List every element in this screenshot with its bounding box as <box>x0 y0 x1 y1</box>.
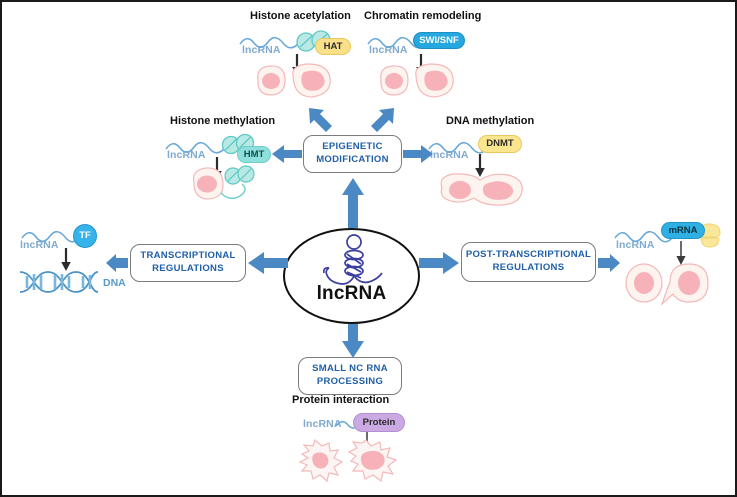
hub-epigenetic-line1: EPIGENETIC <box>322 141 383 154</box>
enzyme-tag-protein: Protein <box>353 413 405 432</box>
arrow-center-to-post-transcriptional <box>419 252 459 274</box>
hub-box-transcriptional-regulations[interactable]: TRANSCRIPTIONAL REGULATIONS <box>130 244 246 282</box>
hub-post-transcriptional-line1: POST-TRANSCRIPTIONAL <box>466 249 591 262</box>
panel-title-dna-methylation: DNA methylation <box>446 115 534 127</box>
arrow-center-to-epigenetic <box>342 178 366 228</box>
panel-title-chromatin-remodeling: Chromatin remodeling <box>364 10 481 22</box>
hub-box-epigenetic-modification[interactable]: EPIGENETIC MODIFICATION <box>303 135 402 173</box>
arrow-center-to-transcriptional <box>248 252 288 274</box>
arrow-center-to-small-nc-rna <box>342 324 366 358</box>
cells-mrna <box>622 260 717 308</box>
enzyme-tag-hmt: HMT <box>237 146 271 163</box>
hub-transcriptional-line2: REGULATIONS <box>152 263 224 276</box>
panel-title-protein-interaction: Protein interaction <box>292 394 389 406</box>
center-label-lncrna: lncRNA <box>283 283 420 305</box>
figure-canvas: Histone acetylation lncRNA HAT Chromatin… <box>0 0 737 497</box>
hub-small-nc-rna-line1: SMALL NC RNA <box>312 363 388 376</box>
panel-title-histone-methylation: Histone methylation <box>170 115 275 127</box>
cell-and-histones-methylation <box>188 162 268 207</box>
cells-chromatin <box>375 60 465 102</box>
hub-box-post-transcriptional-regulations[interactable]: POST-TRANSCRIPTIONAL REGULATIONS <box>461 242 596 282</box>
dna-helix-icon <box>16 267 102 297</box>
cells-acetylation <box>252 60 342 102</box>
arrow-epigenetic-to-histone-acetylation <box>307 106 333 132</box>
arrow-transcriptional-to-tf <box>106 254 128 272</box>
enzyme-tag-dnmt: DNMT <box>478 135 522 153</box>
enzyme-tag-mrna: mRNA <box>661 222 705 239</box>
enzyme-tag-hat: HAT <box>315 38 351 55</box>
hub-transcriptional-line1: TRANSCRIPTIONAL <box>140 250 235 263</box>
arrow-post-transcriptional-to-mrna <box>598 254 620 272</box>
dna-label: DNA <box>103 277 126 289</box>
hub-box-small-nc-rna-processing[interactable]: SMALL NC RNA PROCESSING <box>298 357 402 395</box>
cell-dnameth <box>434 168 534 210</box>
enzyme-tag-swi-snf: SWI/SNF <box>413 32 465 49</box>
cells-protein-interaction <box>298 440 420 490</box>
arrow-epigenetic-to-histone-methylation <box>272 145 302 163</box>
hub-small-nc-rna-line2: PROCESSING <box>317 376 383 389</box>
hub-post-transcriptional-line2: REGULATIONS <box>493 262 565 275</box>
panel-title-histone-acetylation: Histone acetylation <box>250 10 351 22</box>
arrow-epigenetic-to-chromatin-remodeling <box>370 106 396 132</box>
arrow-epigenetic-to-dna-methylation <box>403 145 433 163</box>
hub-epigenetic-line2: MODIFICATION <box>316 154 389 167</box>
enzyme-tag-tf: TF <box>73 224 97 248</box>
